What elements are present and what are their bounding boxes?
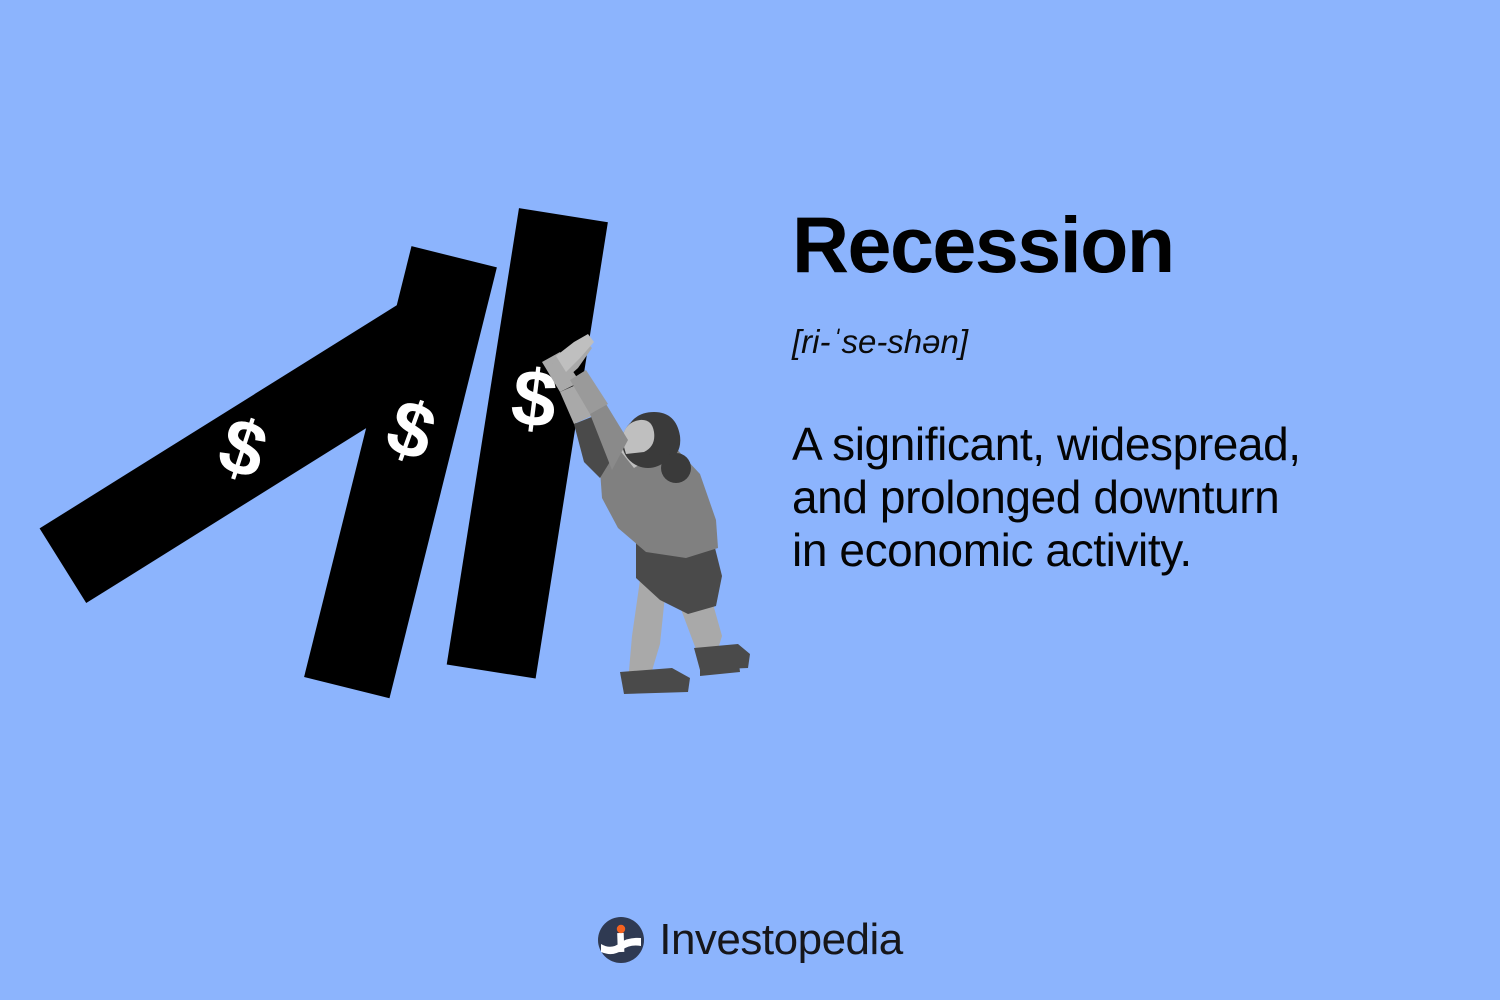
definition-line-1: A significant, widespread,	[792, 418, 1452, 471]
investopedia-logo: Investopedia	[0, 916, 1500, 964]
term-text-block: Recession [ri-ˈse-shən] A significant, w…	[792, 205, 1452, 577]
person-pushing	[542, 334, 750, 694]
pronunciation-text: [ri-ˈse-shən]	[792, 325, 1452, 358]
illustration-falling-bars: $ $ $	[0, 0, 790, 1000]
investopedia-logo-icon	[597, 916, 645, 964]
definition-line-3: in economic activity.	[792, 524, 1452, 577]
investopedia-wordmark: Investopedia	[659, 918, 903, 962]
definition-line-2: and prolonged downturn	[792, 471, 1452, 524]
page-title: Recession	[792, 205, 1452, 284]
definition-text: A significant, widespread, and prolonged…	[792, 418, 1452, 577]
infographic-canvas: $ $ $	[0, 0, 1500, 1000]
